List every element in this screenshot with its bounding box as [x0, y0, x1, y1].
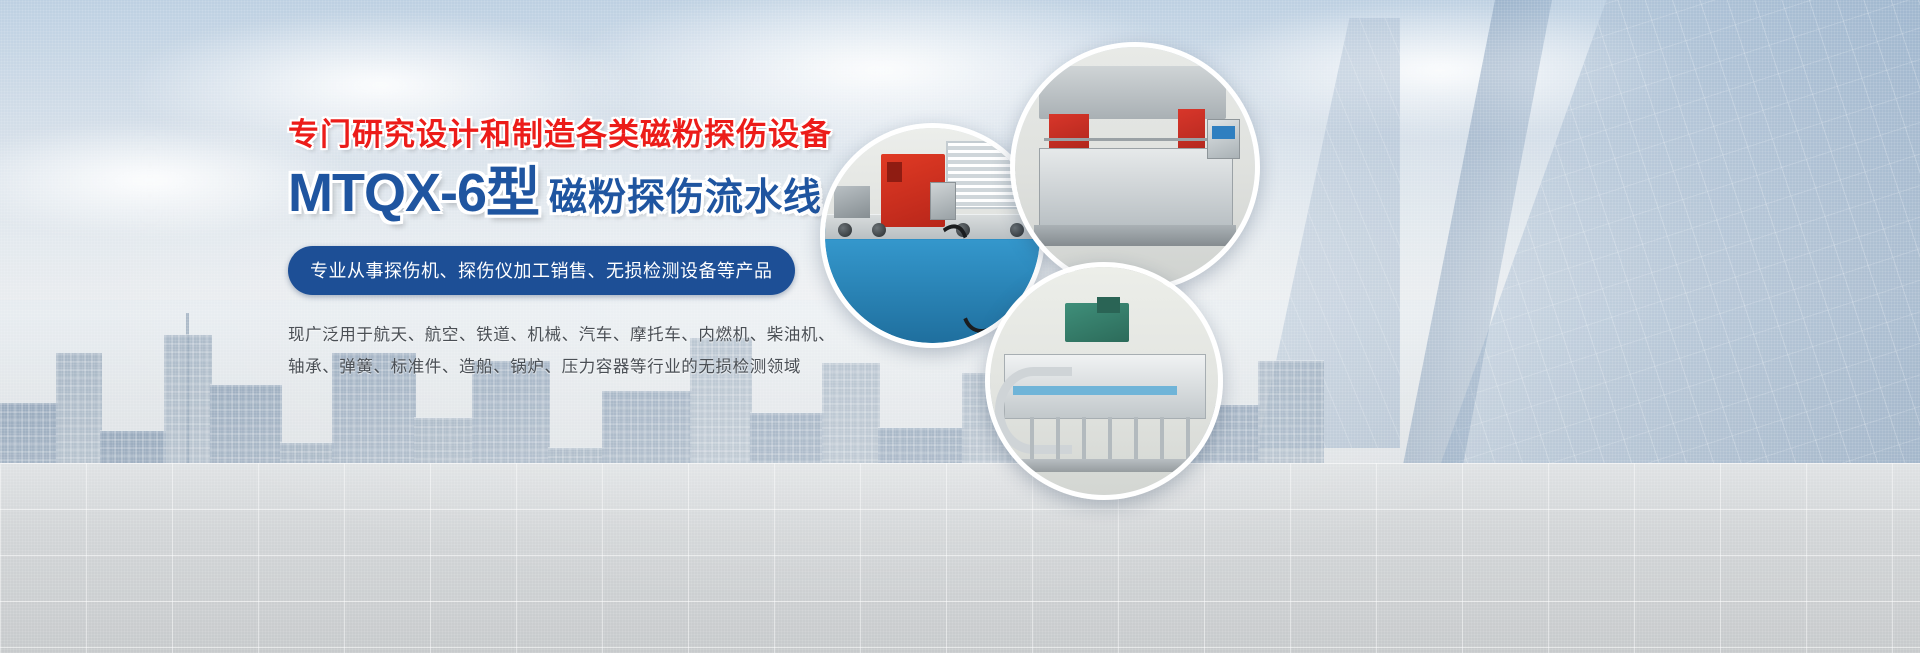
- photo-green-stack: [1097, 297, 1120, 313]
- business-scope-pill[interactable]: 专业从事探伤机、探伤仪加工销售、无损检测设备等产品: [288, 246, 795, 295]
- photo-inner-cabinet: [1015, 47, 1255, 287]
- photo-metal-panel: [930, 182, 956, 221]
- banner-copy: 专门研究设计和制造各类磁粉探伤设备 MTQX-6型 磁粉探伤流水线 专业从事探伤…: [288, 118, 808, 383]
- headline-model-name: MTQX-6型: [288, 166, 539, 220]
- photo-circle-conveyor[interactable]: [985, 262, 1223, 500]
- photo-cabinet-base: [1034, 225, 1236, 247]
- headline-product-name: 磁粉探伤流水线: [549, 179, 822, 220]
- description-text: 现广泛用于航天、航空、铁道、机械、汽车、摩托车、内燃机、柴油机、 轴承、弹簧、标…: [288, 319, 808, 383]
- photo-knob-2: [872, 223, 886, 237]
- photo-conveyor-base: [999, 459, 1209, 473]
- photo-circle-cabinet[interactable]: [1010, 42, 1260, 292]
- photo-knob-1: [838, 223, 852, 237]
- plaza-ground: [0, 463, 1920, 653]
- description-line-1: 现广泛用于航天、航空、铁道、机械、汽车、摩托车、内燃机、柴油机、: [288, 319, 808, 351]
- hero-banner: 专门研究设计和制造各类磁粉探伤设备 MTQX-6型 磁粉探伤流水线 专业从事探伤…: [0, 0, 1920, 653]
- plaza-perspective-lines: [0, 463, 1920, 653]
- photo-stainless-body: [1039, 148, 1233, 232]
- photo-safety-rail: [1044, 138, 1226, 141]
- headline-blue: MTQX-6型 磁粉探伤流水线: [288, 166, 808, 220]
- photo-control-cabinet: [834, 186, 871, 218]
- photo-hmi-screen: [1207, 119, 1240, 159]
- photo-inner-conveyor: [990, 267, 1218, 495]
- photo-knob-4: [1010, 223, 1024, 237]
- description-line-2: 轴承、弹簧、标准件、造船、锅炉、压力容器等行业的无损检测领域: [288, 351, 808, 383]
- photo-red-port: [887, 162, 902, 181]
- photo-conveyor-legs: [1008, 417, 1200, 458]
- headline-red: 专门研究设计和制造各类磁粉探伤设备: [288, 118, 808, 152]
